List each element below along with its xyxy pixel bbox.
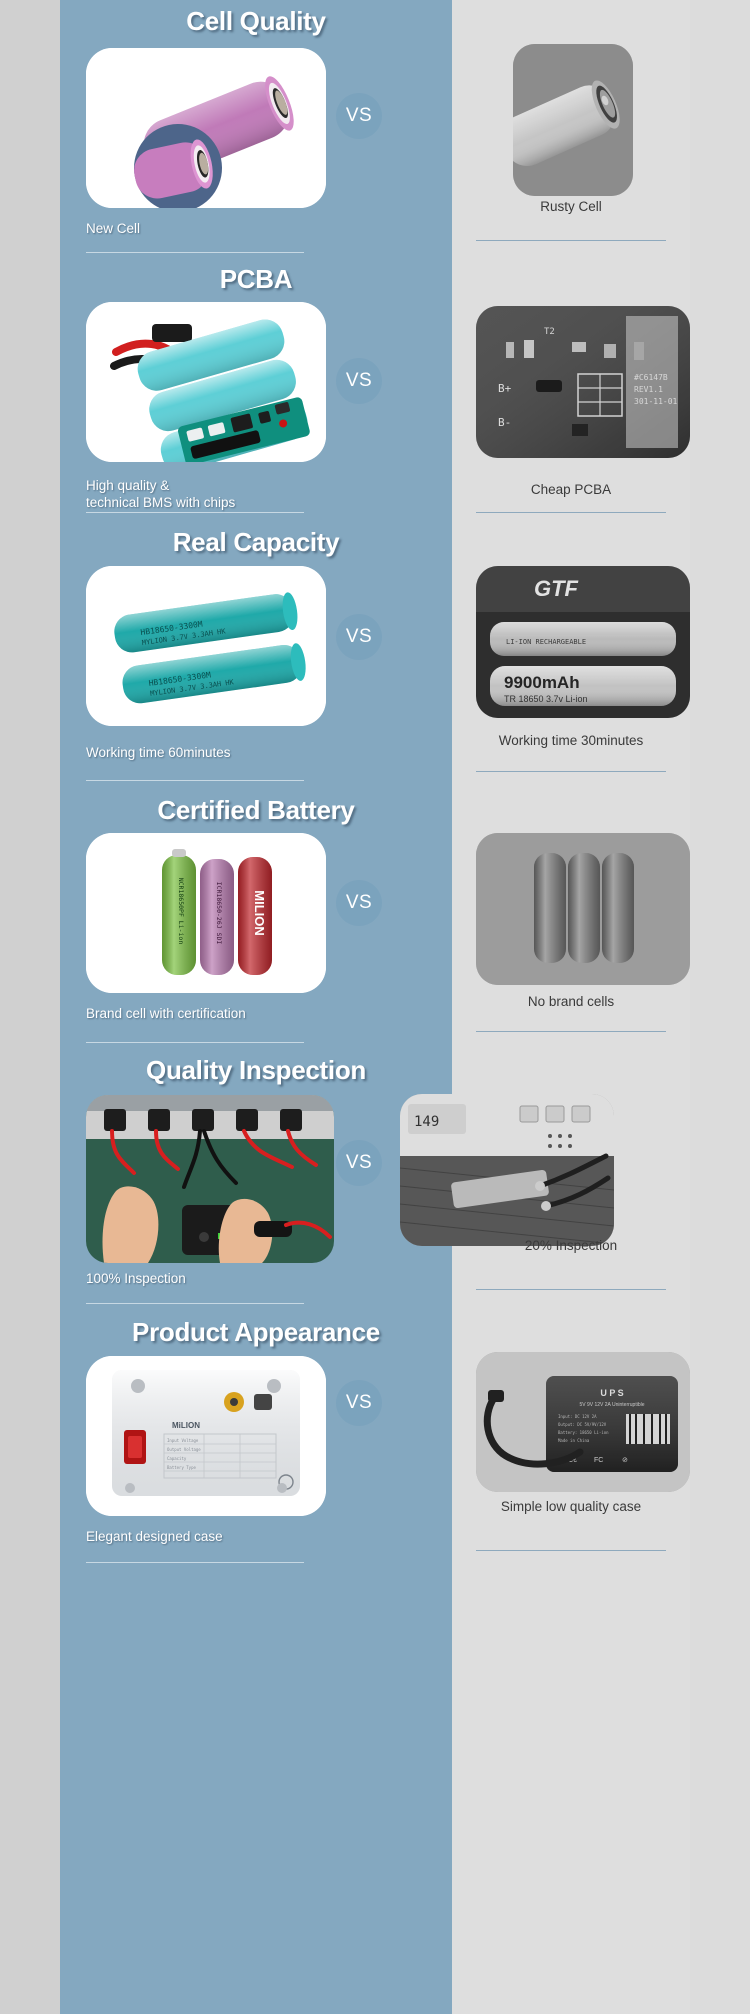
good-caption: New Cell: [86, 220, 386, 237]
row-divider-left: [86, 780, 304, 781]
row-heading: Real Capacity: [60, 527, 452, 558]
vs-label: VS: [346, 1392, 372, 1414]
svg-text:⊘: ⊘: [622, 1457, 628, 1464]
bad-image-card: GTF LI-ION RECHARGEABLE 9900mAh TR 18650…: [476, 566, 690, 718]
svg-text:Made in China: Made in China: [558, 1438, 590, 1443]
vs-badge: VS: [336, 1140, 382, 1186]
row-divider-left: [86, 512, 304, 513]
svg-text:ICR18650-26J SDI: ICR18650-26J SDI: [215, 882, 223, 945]
row-heading: Cell Quality: [60, 6, 452, 37]
svg-text:NCR18650PF Li-ion: NCR18650PF Li-ion: [177, 878, 185, 945]
vs-label: VS: [346, 1152, 372, 1174]
white-ups-case-image: MiLION Input VoltageOutput Voltage Capac…: [86, 1356, 326, 1516]
svg-text:Output Voltage: Output Voltage: [167, 1447, 201, 1452]
new-lithium-cells-image: [86, 48, 326, 208]
vs-badge: VS: [336, 1380, 382, 1426]
svg-text:Input Voltage: Input Voltage: [167, 1438, 199, 1443]
good-image-card: [86, 302, 326, 462]
row-heading: Certified Battery: [60, 795, 452, 826]
good-image-card: [86, 48, 326, 208]
svg-text:Input: DC 12V 2A: Input: DC 12V 2A: [558, 1414, 597, 1419]
bad-caption: Cheap PCBA: [452, 481, 690, 498]
teal-cells-image: HB18650-3300M MYLION 3.7V 3.3AH HK HB186…: [86, 566, 326, 726]
good-image-card: NCR18650PF Li-ion ICR18650-26J SDI MILIO…: [86, 833, 326, 993]
row-heading: Product Appearance: [60, 1317, 452, 1348]
good-caption: Brand cell with certification: [86, 1005, 386, 1022]
svg-text:TR 18650 3.7v Li-ion: TR 18650 3.7v Li-ion: [504, 694, 588, 704]
unbranded-cells-image: [476, 833, 690, 985]
row-divider-right: [476, 240, 666, 241]
good-caption: Working time 60minutes: [86, 744, 386, 761]
svg-text:301-11-01: 301-11-01: [634, 397, 678, 406]
svg-text:B+: B+: [498, 382, 512, 395]
svg-text:FC: FC: [594, 1457, 603, 1464]
row-divider-right: [476, 1289, 666, 1290]
good-image-card: [86, 1095, 334, 1263]
row-divider-left: [86, 1303, 304, 1304]
svg-text:LI-ION RECHARGEABLE: LI-ION RECHARGEABLE: [506, 638, 586, 646]
bms-board-image: [86, 302, 326, 462]
vs-label: VS: [346, 892, 372, 914]
row-divider-right: [476, 512, 666, 513]
row-divider-left: [86, 252, 304, 253]
svg-text:MILION: MILION: [252, 890, 267, 936]
page-left-margin: [0, 0, 60, 2014]
svg-text:Output: DC 5V/9V/12V: Output: DC 5V/9V/12V: [558, 1422, 607, 1427]
row-divider-right: [476, 1550, 666, 1551]
vs-label: VS: [346, 105, 372, 127]
good-image-card: MiLION Input VoltageOutput Voltage Capac…: [86, 1356, 326, 1516]
svg-text:149: 149: [414, 1114, 439, 1130]
bad-caption: Rusty Cell: [452, 198, 690, 215]
bad-image-card: T2 B+ B- #C6147B REV1.: [476, 306, 690, 458]
svg-text:Capacity: Capacity: [167, 1456, 187, 1461]
svg-text:5V 9V 12V 2A Uninterruptible: 5V 9V 12V 2A Uninterruptible: [579, 1402, 644, 1408]
svg-text:T2: T2: [544, 327, 555, 337]
vs-badge: VS: [336, 880, 382, 926]
svg-text:9900mAh: 9900mAh: [504, 673, 580, 692]
page-right-margin: [690, 0, 750, 2014]
vs-label: VS: [346, 370, 372, 392]
bad-caption: No brand cells: [452, 993, 690, 1010]
bad-caption: Working time 30minutes: [452, 732, 690, 749]
bad-image-card: [476, 833, 690, 985]
svg-text:#C6147B: #C6147B: [634, 373, 668, 382]
row-divider-left: [86, 1562, 304, 1563]
branded-cells-image: NCR18650PF Li-ion ICR18650-26J SDI MILIO…: [86, 833, 326, 993]
bench-inspection-image: [86, 1095, 334, 1263]
vs-badge: VS: [336, 93, 382, 139]
row-heading: Quality Inspection: [60, 1055, 452, 1086]
good-caption: 100% Inspection: [86, 1270, 386, 1287]
svg-text:GTF: GTF: [534, 576, 579, 601]
svg-text:REV1.1: REV1.1: [634, 385, 663, 394]
good-caption: High quality & technical BMS with chips: [86, 477, 386, 511]
vs-badge: VS: [336, 614, 382, 660]
bad-image-card: U P S 5V 9V 12V 2A Uninterruptible Input…: [476, 1352, 690, 1492]
row-divider-right: [476, 1031, 666, 1032]
capacity-tester-image: 149 Battery Capacity Tester: [400, 1094, 614, 1246]
row-heading: PCBA: [60, 264, 452, 295]
black-ups-case-image: U P S 5V 9V 12V 2A Uninterruptible Input…: [476, 1352, 690, 1492]
row-divider-left: [86, 1042, 304, 1043]
svg-text:B-: B-: [498, 416, 511, 429]
cheap-pcba-image: T2 B+ B- #C6147B REV1.: [476, 306, 690, 458]
vs-badge: VS: [336, 358, 382, 404]
bad-image-card: 149 Battery Capacity Tester: [400, 1094, 614, 1246]
svg-text:Battery: 18650 Li-ion: Battery: 18650 Li-ion: [558, 1430, 609, 1435]
svg-text:U P S: U P S: [600, 1388, 623, 1398]
vs-label: VS: [346, 626, 372, 648]
comparison-infographic: Cell Quality: [0, 0, 750, 2014]
fake-capacity-cells-image: GTF LI-ION RECHARGEABLE 9900mAh TR 18650…: [476, 566, 690, 718]
rusty-cell-image: [513, 44, 633, 196]
svg-text:MiLION: MiLION: [172, 1421, 200, 1430]
bad-caption: 20% Inspection: [452, 1237, 690, 1254]
row-divider-right: [476, 771, 666, 772]
bad-caption: Simple low quality case: [452, 1498, 690, 1515]
good-caption: Elegant designed case: [86, 1528, 386, 1545]
good-image-card: HB18650-3300M MYLION 3.7V 3.3AH HK HB186…: [86, 566, 326, 726]
svg-text:Battery Type: Battery Type: [167, 1465, 196, 1470]
bad-image-card: [513, 44, 633, 196]
